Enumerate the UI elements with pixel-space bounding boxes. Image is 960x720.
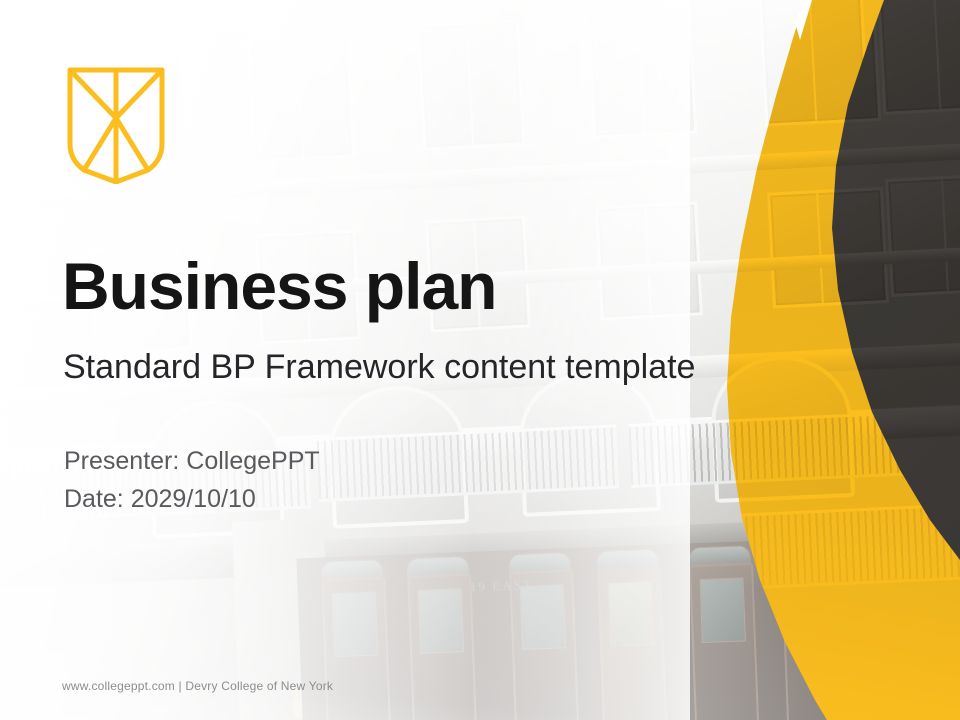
date-line: Date: 2029/10/10 xyxy=(64,480,320,518)
slide-footer: www.collegeppt.com | Devry College of Ne… xyxy=(62,679,333,693)
presenter-line: Presenter: CollegePPT xyxy=(64,442,320,480)
slide-subtitle: Standard BP Framework content template xyxy=(63,350,695,384)
presentation-slide: 19 EAST xyxy=(0,0,960,720)
slide-meta: Presenter: CollegePPT Date: 2029/10/10 xyxy=(64,442,320,518)
devry-shield-logo xyxy=(64,66,168,184)
slide-title: Business plan xyxy=(62,253,496,319)
slide-content: Business plan Standard BP Framework cont… xyxy=(0,0,960,720)
